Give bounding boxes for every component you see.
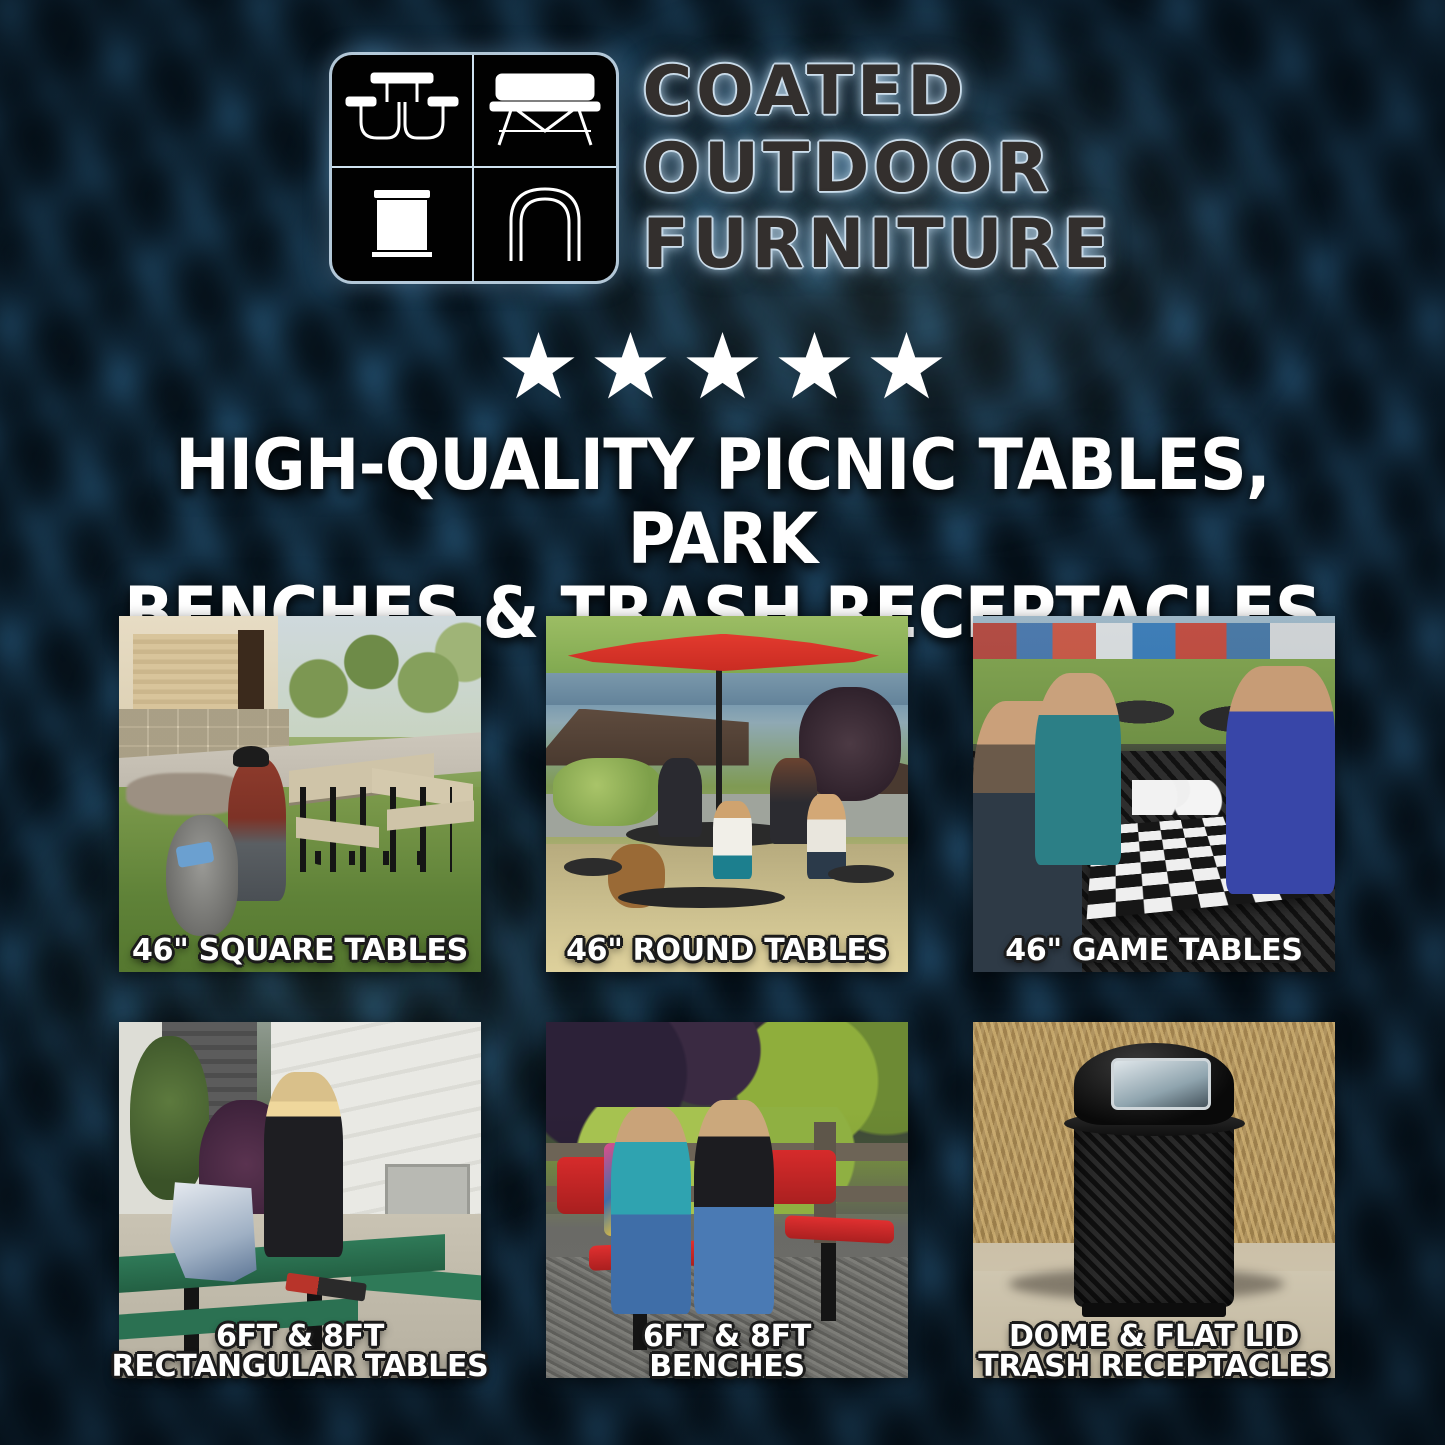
star-rating: [0, 332, 1445, 404]
star-icon: [870, 332, 944, 404]
product-photo: [119, 1022, 481, 1378]
brand-name-line-2: OUTDOOR: [642, 136, 1112, 203]
product-photo: [119, 616, 481, 972]
product-grid: 46" SQUARE TABLES 46" ROU: [119, 616, 1326, 1378]
product-tile-round-tables[interactable]: 46" ROUND TABLES: [546, 616, 908, 972]
product-tile-square-tables[interactable]: 46" SQUARE TABLES: [119, 616, 481, 972]
logo-lockup: COATED OUTDOOR FURNITURE: [332, 55, 1112, 281]
star-icon: [502, 332, 576, 404]
round-picnic-table-icon: [332, 55, 474, 168]
product-tile-benches[interactable]: 6FT & 8FT BENCHES: [546, 1022, 908, 1378]
dome-lid-trash-receptacle-icon: [474, 168, 616, 281]
brand-logo-mark: [332, 55, 616, 281]
product-tile-rectangular-tables[interactable]: 6FT & 8FT RECTANGULAR TABLES: [119, 1022, 481, 1378]
brand-header: COATED OUTDOOR FURNITURE: [0, 55, 1445, 281]
star-icon: [594, 332, 668, 404]
star-icon: [778, 332, 852, 404]
brand-name-line-1: COATED: [642, 59, 1112, 126]
flat-lid-trash-receptacle-icon: [332, 168, 474, 281]
star-icon: [686, 332, 760, 404]
product-photo: [546, 616, 908, 972]
product-photo: [973, 1022, 1335, 1378]
brand-wordmark: COATED OUTDOOR FURNITURE: [642, 55, 1112, 279]
rectangular-picnic-table-icon: [474, 55, 616, 168]
brand-name-line-3: FURNITURE: [642, 212, 1112, 279]
product-photo: [546, 1022, 908, 1378]
product-tile-trash-receptacles[interactable]: DOME & FLAT LID TRASH RECEPTACLES: [973, 1022, 1335, 1378]
promo-poster: COATED OUTDOOR FURNITURE HIGH-QUALITY PI…: [0, 0, 1445, 1445]
headline-line-1: HIGH-QUALITY PICNIC TABLES, PARK: [106, 428, 1338, 576]
product-tile-game-tables[interactable]: 46" GAME TABLES: [973, 616, 1335, 972]
product-photo: [973, 616, 1335, 972]
